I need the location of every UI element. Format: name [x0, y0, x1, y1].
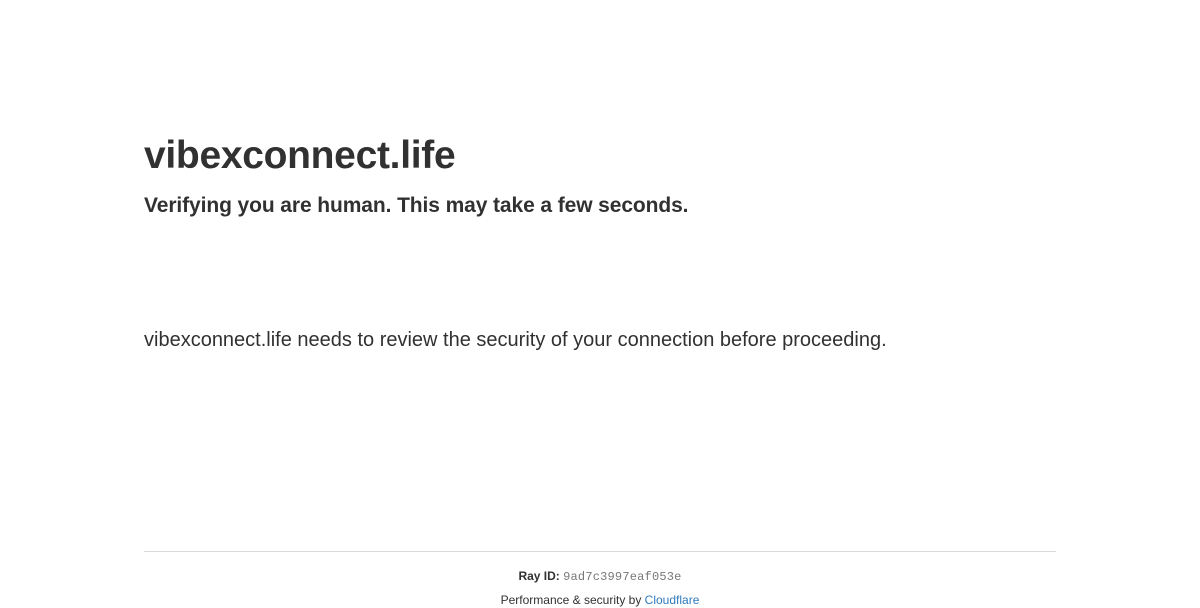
- page-footer: Ray ID: 9ad7c3997eaf053e Performance & s…: [144, 551, 1056, 608]
- ray-id-line: Ray ID: 9ad7c3997eaf053e: [144, 569, 1056, 585]
- footer-attribution: Performance & security by Cloudflare: [144, 593, 1056, 608]
- ray-id-label: Ray ID:: [518, 569, 559, 583]
- ray-id-value: 9ad7c3997eaf053e: [563, 570, 681, 584]
- verification-widget-placeholder[interactable]: [144, 240, 444, 310]
- challenge-page: vibexconnect.life Verifying you are huma…: [0, 0, 1200, 600]
- cloudflare-link[interactable]: Cloudflare: [645, 593, 700, 607]
- challenge-description: vibexconnect.life needs to review the se…: [144, 322, 944, 358]
- challenge-subtitle: Verifying you are human. This may take a…: [144, 193, 688, 219]
- page-title: vibexconnect.life: [144, 133, 455, 179]
- footer-attribution-text: Performance & security by: [501, 593, 645, 607]
